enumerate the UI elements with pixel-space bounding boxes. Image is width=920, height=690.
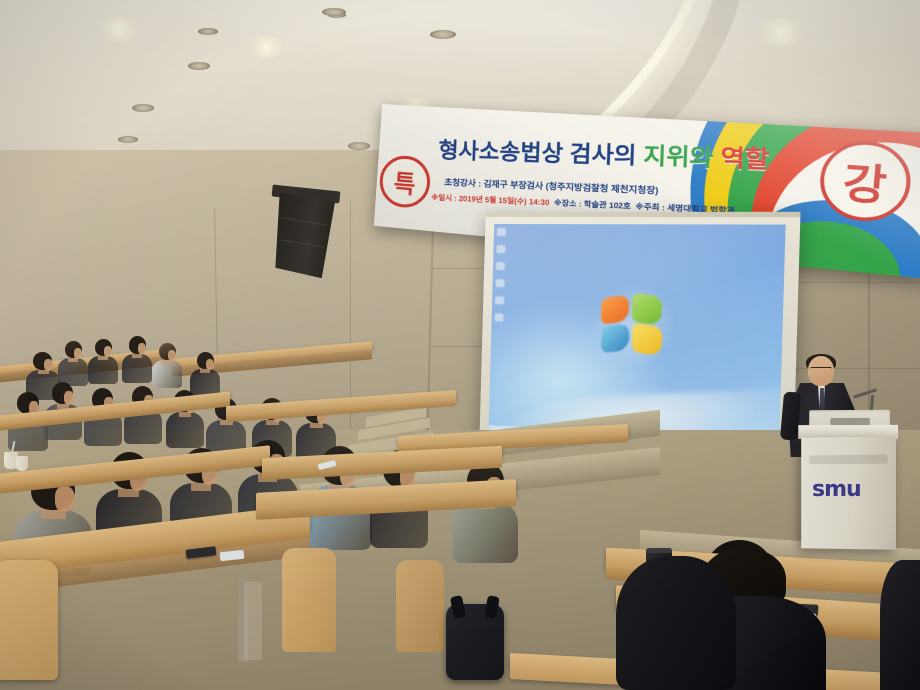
- recessed-downlight-icon: [132, 104, 154, 112]
- chair-back: [282, 548, 336, 652]
- audience-member: [88, 339, 118, 381]
- banner-emblem-left: 특: [378, 154, 432, 209]
- desktop-icon[interactable]: [497, 228, 506, 236]
- desktop-icon[interactable]: [496, 262, 505, 270]
- audience-member-face: [44, 359, 53, 371]
- desktop-icon[interactable]: [495, 279, 504, 287]
- banner-meta-place: ※장소 : 학술관 102호: [554, 198, 631, 211]
- light-hotspot: [246, 36, 286, 58]
- banner-meta-datetime: ※일시 : 2019년 5월 15일(수) 14:30: [431, 193, 549, 208]
- audience-member: [190, 352, 220, 394]
- audience-member-torso: [452, 500, 518, 563]
- trash-bin-lid: [646, 548, 672, 553]
- desktop-icon-column: [494, 228, 511, 331]
- chair-back: [0, 560, 58, 680]
- desktop-icon[interactable]: [496, 245, 505, 253]
- foreground-person-partial: [880, 560, 920, 690]
- banner-title-part1: 형사소송법상 검사의: [438, 138, 644, 169]
- audience-member-face: [206, 359, 214, 370]
- desk-modesty-panel: [244, 582, 262, 660]
- audience-member: [452, 462, 518, 558]
- recessed-downlight-icon: [322, 8, 346, 16]
- audience-member-torso: [122, 354, 152, 383]
- logo-pane-yellow: [632, 323, 662, 356]
- recessed-downlight-icon: [188, 62, 210, 70]
- audience-member-face: [64, 391, 74, 405]
- logo-pane-green: [632, 293, 662, 326]
- foreground-person-shoulder: [616, 556, 736, 690]
- banner-title-part3: 역할: [720, 145, 770, 173]
- desktop-icon[interactable]: [495, 296, 504, 304]
- speaker-seam: [281, 217, 327, 225]
- podium-lip: [809, 455, 888, 465]
- podium-logo: smu: [812, 478, 884, 502]
- audience-member-face: [138, 343, 146, 354]
- recessed-downlight-icon: [198, 28, 218, 35]
- recessed-downlight-icon: [118, 136, 138, 143]
- audience-member-torso: [152, 360, 182, 388]
- audience-member-torso: [88, 356, 118, 384]
- audience-member: [152, 343, 182, 385]
- light-hotspot: [754, 18, 810, 46]
- presenter-glasses-icon: [810, 367, 832, 372]
- desktop-icon[interactable]: [494, 313, 503, 321]
- audience-member-torso: [166, 412, 204, 448]
- audience-member: [122, 336, 152, 380]
- screen-top-rail: [486, 212, 801, 217]
- recessed-downlight-icon: [430, 30, 456, 39]
- banner-title: 형사소송법상 검사의 지위와 역할: [438, 140, 814, 174]
- audience-member-face: [74, 348, 82, 359]
- drink-cup[interactable]: [16, 456, 28, 471]
- banner-title-part2: 지위와: [643, 143, 721, 172]
- audience-member-face: [168, 350, 176, 361]
- recessed-downlight-icon: [348, 142, 370, 150]
- audience-member-face: [104, 346, 112, 357]
- chair-back: [396, 560, 444, 652]
- lecture-hall-photo: 특 강 형사소송법상 검사의 지위와 역할 초청강사 : 김재구 부장검사 (청…: [0, 0, 920, 690]
- light-hotspot: [96, 16, 142, 42]
- audience-member: [58, 341, 88, 383]
- windows-flag-logo-icon: [600, 295, 666, 358]
- audience-member-face: [55, 486, 75, 512]
- speaker-seam: [280, 239, 324, 247]
